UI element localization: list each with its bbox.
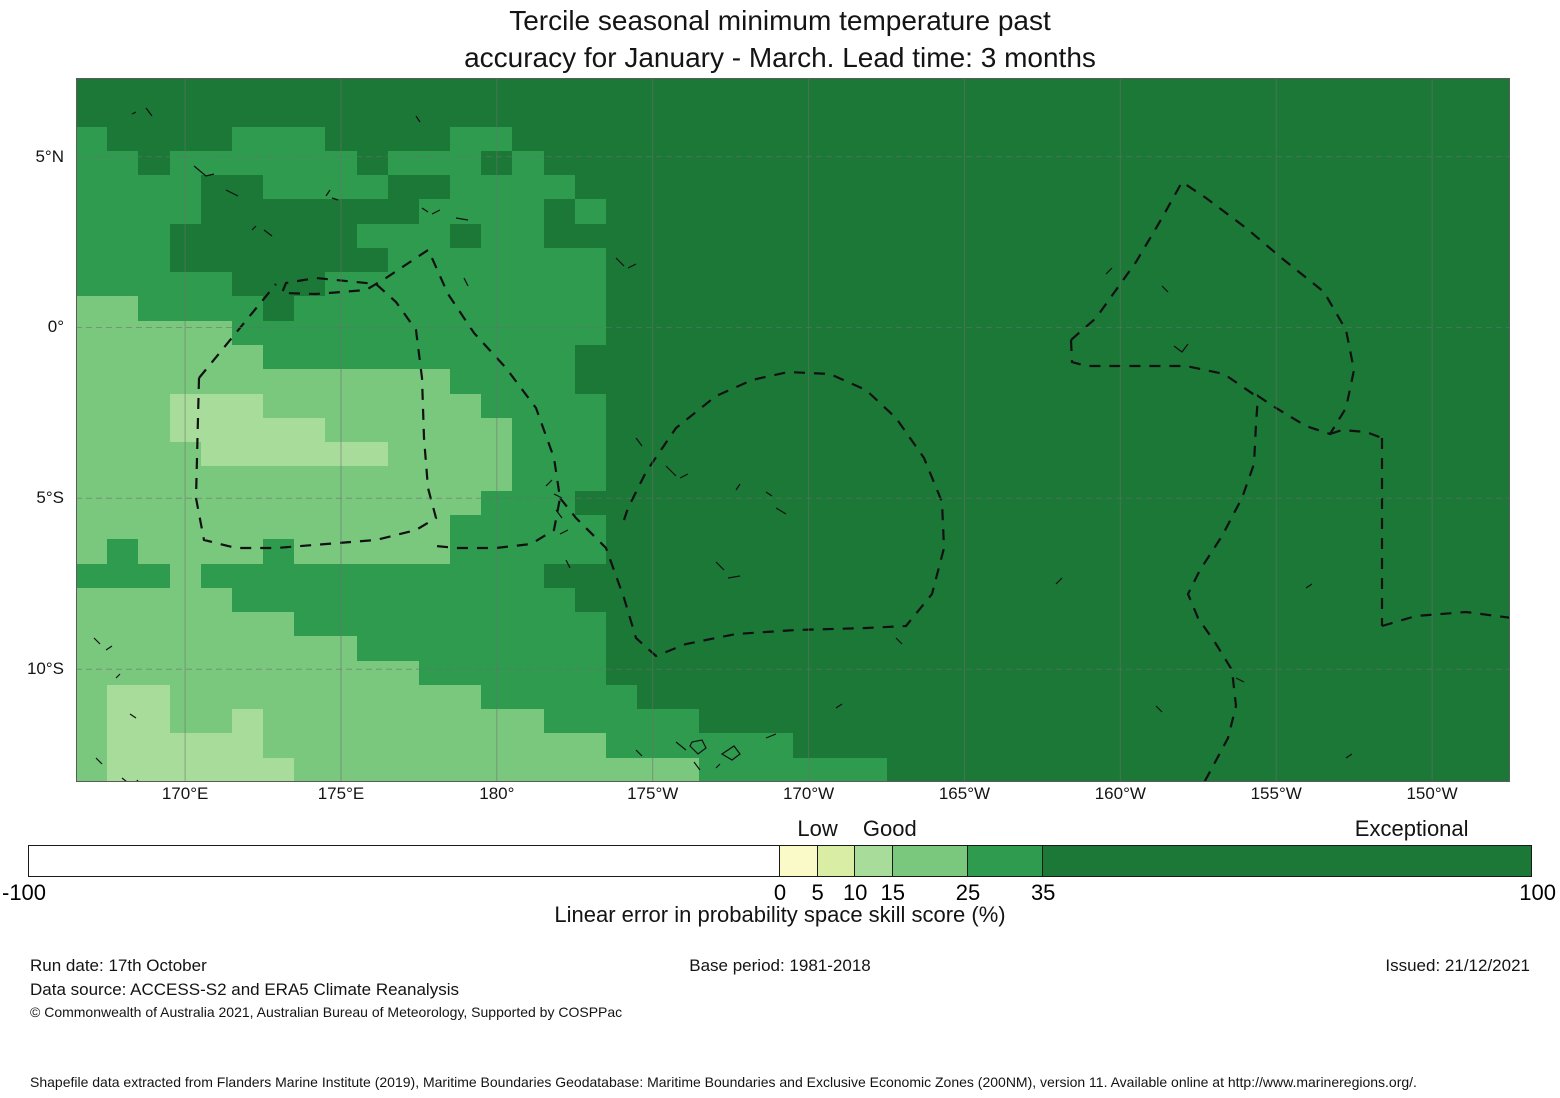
heatmap-cell: [1198, 272, 1230, 297]
heatmap-cell: [887, 442, 919, 467]
heatmap-cell: [357, 636, 389, 661]
heatmap-cell: [1323, 661, 1355, 686]
heatmap-cell: [170, 491, 202, 516]
heatmap-cell: [762, 369, 794, 394]
heatmap-cell: [1167, 248, 1199, 273]
colorbar-gradient[interactable]: [28, 845, 1532, 877]
heatmap-cell: [357, 466, 389, 491]
heatmap-cell: [575, 175, 607, 200]
heatmap-cell: [1385, 491, 1417, 516]
colorbar-tick-label: 25: [956, 880, 980, 906]
heatmap-cell: [1416, 296, 1448, 321]
title-line-2: accuracy for January - March. Lead time:…: [0, 39, 1560, 76]
heatmap-cell: [637, 418, 669, 443]
heatmap-cell: [1354, 369, 1386, 394]
colorbar-segment[interactable]: [780, 846, 818, 876]
heatmap-cell: [388, 345, 420, 370]
heatmap-cell: [294, 321, 326, 346]
heatmap-cell: [637, 224, 669, 249]
heatmap-cell: [544, 733, 576, 758]
heatmap-cell: [325, 175, 357, 200]
heatmap-cell: [1198, 612, 1230, 637]
heatmap-cell: [918, 442, 950, 467]
heatmap-cell: [855, 199, 887, 224]
heatmap-cell: [1354, 733, 1386, 758]
heatmap-cell: [450, 418, 482, 443]
heatmap-cell: [824, 78, 856, 103]
heatmap-cell: [668, 102, 700, 127]
heatmap-cell: [1229, 442, 1261, 467]
heatmap-cell: [232, 442, 264, 467]
heatmap-cell: [419, 418, 451, 443]
heatmap-cell: [1292, 515, 1324, 540]
heatmap-cell: [1416, 466, 1448, 491]
heatmap-cell: [918, 151, 950, 176]
colorbar-segment[interactable]: [1043, 846, 1531, 876]
heatmap-cell: [1261, 442, 1293, 467]
heatmap-cell: [980, 369, 1012, 394]
heatmap-cell: [824, 248, 856, 273]
heatmap-cell: [388, 661, 420, 686]
heatmap-cell: [201, 78, 233, 103]
heatmap-cell: [263, 539, 295, 564]
heatmap-cell: [357, 224, 389, 249]
heatmap-cell: [1385, 588, 1417, 613]
heatmap-cell: [1323, 175, 1355, 200]
heatmap-cell: [699, 127, 731, 152]
heatmap-cell: [918, 369, 950, 394]
heatmap-cell: [325, 491, 357, 516]
heatmap-cell: [1042, 394, 1074, 419]
colorbar-tick-label: 5: [811, 880, 823, 906]
heatmap-cell: [294, 394, 326, 419]
heatmap-cell: [1167, 758, 1199, 782]
heatmap-cell: [263, 636, 295, 661]
heatmap-cell: [949, 636, 981, 661]
heatmap-cell: [699, 661, 731, 686]
heatmap-cell: [544, 272, 576, 297]
heatmap-cell: [1292, 636, 1324, 661]
footer-row-5: Shapefile data extracted from Flanders M…: [0, 1074, 1560, 1098]
heatmap-cell: [325, 685, 357, 710]
heatmap-cell: [1167, 539, 1199, 564]
heatmap-cell: [481, 661, 513, 686]
heatmap-cell: [793, 248, 825, 273]
heatmap-cell: [1292, 321, 1324, 346]
heatmap-cell: [1074, 296, 1106, 321]
heatmap-cell: [201, 369, 233, 394]
heatmap-cell: [294, 588, 326, 613]
heatmap-cell: [1198, 709, 1230, 734]
heatmap-cell: [544, 151, 576, 176]
heatmap-cell: [357, 345, 389, 370]
heatmap-cell: [1292, 248, 1324, 273]
heatmap-cell: [1479, 442, 1510, 467]
heatmap-cell: [263, 442, 295, 467]
heatmap-cell: [450, 248, 482, 273]
heatmap-cell: [668, 224, 700, 249]
heatmap-cell: [481, 345, 513, 370]
heatmap-cell: [232, 685, 264, 710]
heatmap-cell: [419, 758, 451, 782]
heatmap-cell: [450, 733, 482, 758]
heatmap-cell: [419, 442, 451, 467]
heatmap-cell: [1229, 272, 1261, 297]
heatmap-cell: [450, 175, 482, 200]
heatmap-cell: [1042, 418, 1074, 443]
heatmap-cell: [1011, 709, 1043, 734]
shapefile-attribution: Shapefile data extracted from Flanders M…: [30, 1074, 1417, 1090]
heatmap-cell: [1105, 78, 1137, 103]
heatmap-cell: [201, 345, 233, 370]
heatmap-cell: [1229, 636, 1261, 661]
heatmap-cell: [1198, 418, 1230, 443]
heatmap-cell: [294, 175, 326, 200]
heatmap-cell: [1416, 636, 1448, 661]
heatmap-cell: [263, 102, 295, 127]
heatmap-cell: [1074, 224, 1106, 249]
heatmap-cell: [637, 733, 669, 758]
heatmap-cell: [419, 321, 451, 346]
heatmap-cell: [201, 588, 233, 613]
heatmap-cell: [1042, 78, 1074, 103]
heatmap-cell: [1261, 636, 1293, 661]
heatmap-cell: [1323, 564, 1355, 589]
heatmap-cell: [263, 248, 295, 273]
heatmap-cell: [699, 685, 731, 710]
heatmap-cell: [980, 321, 1012, 346]
heatmap-cell: [980, 248, 1012, 273]
heatmap-cell: [980, 612, 1012, 637]
heatmap-cell: [1074, 248, 1106, 273]
heatmap-cell: [357, 515, 389, 540]
heatmap-cell: [1105, 442, 1137, 467]
heatmap-cell: [637, 466, 669, 491]
heatmap-cell: [232, 709, 264, 734]
heatmap-cell: [887, 78, 919, 103]
heatmap-cell: [107, 272, 139, 297]
heatmap-cell: [887, 321, 919, 346]
heatmap-cell: [170, 272, 202, 297]
heatmap-cell: [762, 758, 794, 782]
heatmap-cell: [138, 709, 170, 734]
heatmap-cell: [294, 345, 326, 370]
heatmap-cell: [1042, 248, 1074, 273]
heatmap-cell: [1042, 345, 1074, 370]
heatmap-cell: [170, 564, 202, 589]
heatmap-cell: [232, 127, 264, 152]
heatmap-cell: [1136, 394, 1168, 419]
heatmap-cell: [544, 248, 576, 273]
heatmap-cell: [1385, 515, 1417, 540]
heatmap-cell: [1323, 272, 1355, 297]
heatmap-cell: [762, 418, 794, 443]
heatmap-cell: [357, 127, 389, 152]
heatmap-cell: [793, 612, 825, 637]
heatmap-cell: [76, 321, 108, 346]
heatmap-cell: [1136, 685, 1168, 710]
heatmap-cell: [512, 466, 544, 491]
heatmap-cell: [76, 636, 108, 661]
heatmap-cell: [201, 151, 233, 176]
heatmap-cell: [481, 612, 513, 637]
heatmap-cell: [201, 758, 233, 782]
x-axis-tick-label: 170°W: [783, 784, 834, 804]
heatmap-cell: [450, 127, 482, 152]
heatmap-cell: [668, 272, 700, 297]
heatmap-cell: [1136, 733, 1168, 758]
heatmap-cell: [1416, 418, 1448, 443]
colorbar-tick-label: 0: [774, 880, 786, 906]
heatmap-cell: [1167, 296, 1199, 321]
heatmap-cell: [294, 491, 326, 516]
heatmap-cell: [668, 466, 700, 491]
heatmap-cell: [855, 466, 887, 491]
heatmap-cell: [107, 709, 139, 734]
heatmap-cell: [606, 151, 638, 176]
heatmap-cell: [793, 709, 825, 734]
heatmap-cell: [980, 224, 1012, 249]
heatmap-cell: [1074, 321, 1106, 346]
heatmap-cell: [1448, 685, 1480, 710]
heatmap-cell: [76, 296, 108, 321]
heatmap-cell: [949, 199, 981, 224]
heatmap-cell: [107, 661, 139, 686]
colorbar-segment[interactable]: [818, 846, 856, 876]
heatmap-cell: [1323, 296, 1355, 321]
heatmap-cell: [1323, 321, 1355, 346]
heatmap-cell: [824, 369, 856, 394]
heatmap-cell: [762, 272, 794, 297]
heatmap-cell: [793, 151, 825, 176]
colorbar-segment[interactable]: [968, 846, 1043, 876]
colorbar-segment[interactable]: [893, 846, 968, 876]
heatmap-cell: [512, 636, 544, 661]
footer-row-3: © Commonwealth of Australia 2021, Austra…: [0, 1004, 1560, 1028]
heatmap-cell: [138, 199, 170, 224]
heatmap-cell: [419, 636, 451, 661]
heatmap-cell: [918, 296, 950, 321]
heatmap-cell: [762, 709, 794, 734]
heatmap-cell: [637, 442, 669, 467]
heatmap-cell-layer: [76, 78, 1510, 782]
heatmap-cell: [1011, 199, 1043, 224]
heatmap-cell: [1354, 539, 1386, 564]
heatmap-cell: [1074, 272, 1106, 297]
heatmap-cell: [481, 709, 513, 734]
heatmap-cell: [107, 491, 139, 516]
heatmap-cell: [357, 151, 389, 176]
heatmap-cell: [606, 102, 638, 127]
heatmap-cell: [1011, 588, 1043, 613]
heatmap-cell: [419, 539, 451, 564]
heatmap-cell: [325, 248, 357, 273]
heatmap-cell: [1167, 564, 1199, 589]
heatmap-cell: [980, 175, 1012, 200]
heatmap-cell: [388, 369, 420, 394]
heatmap-cell: [512, 515, 544, 540]
heatmap-cell: [606, 296, 638, 321]
heatmap-cell: [232, 466, 264, 491]
heatmap-cell: [1448, 466, 1480, 491]
heatmap-cell: [762, 199, 794, 224]
heatmap-cell: [575, 418, 607, 443]
heatmap-cell: [76, 564, 108, 589]
heatmap-cell: [731, 515, 763, 540]
heatmap-cell: [1105, 636, 1137, 661]
heatmap-cell: [1479, 564, 1510, 589]
heatmap-cell: [949, 224, 981, 249]
heatmap-cell: [668, 296, 700, 321]
heatmap-cell: [918, 394, 950, 419]
heatmap-cell: [1354, 78, 1386, 103]
heatmap-cell: [606, 612, 638, 637]
heatmap-cell: [450, 588, 482, 613]
heatmap-cell: [481, 102, 513, 127]
heatmap-cell: [325, 418, 357, 443]
heatmap-cell: [793, 442, 825, 467]
heatmap-cell: [1074, 758, 1106, 782]
heatmap-cell: [1479, 539, 1510, 564]
heatmap-cell: [201, 539, 233, 564]
heatmap-cell: [1167, 588, 1199, 613]
heatmap-cell: [824, 175, 856, 200]
heatmap-cell: [138, 442, 170, 467]
heatmap-cell: [637, 78, 669, 103]
heatmap-cell: [980, 442, 1012, 467]
heatmap-cell: [668, 418, 700, 443]
heatmap-cell: [1011, 224, 1043, 249]
heatmap-cell: [263, 175, 295, 200]
heatmap-cell: [76, 175, 108, 200]
heatmap-cell: [138, 564, 170, 589]
heatmap-cell: [544, 539, 576, 564]
heatmap-cell: [887, 709, 919, 734]
heatmap-cell: [1229, 296, 1261, 321]
heatmap-cell: [544, 127, 576, 152]
heatmap-cell: [1198, 515, 1230, 540]
heatmap-cell: [1416, 369, 1448, 394]
heatmap-cell: [107, 296, 139, 321]
heatmap-cell: [1074, 418, 1106, 443]
heatmap-cell: [606, 709, 638, 734]
heatmap-cell: [170, 224, 202, 249]
heatmap-cell: [606, 515, 638, 540]
heatmap-cell: [918, 661, 950, 686]
colorbar-segment[interactable]: [855, 846, 893, 876]
heatmap-cell: [512, 151, 544, 176]
heatmap-cell: [1042, 515, 1074, 540]
heatmap-cell: [325, 758, 357, 782]
heatmap-cell: [357, 272, 389, 297]
heatmap-cell: [699, 491, 731, 516]
heatmap-cell: [1011, 466, 1043, 491]
heatmap-cell: [887, 224, 919, 249]
heatmap-cell: [949, 102, 981, 127]
heatmap-cell: [138, 296, 170, 321]
heatmap-cell: [1479, 709, 1510, 734]
heatmap-cell: [1416, 709, 1448, 734]
heatmap-cell: [1448, 151, 1480, 176]
heatmap-cell: [232, 491, 264, 516]
heatmap-cell: [887, 345, 919, 370]
heatmap-cell: [419, 272, 451, 297]
heatmap-cell: [887, 369, 919, 394]
heatmap-cell: [263, 127, 295, 152]
heatmap-cell: [325, 442, 357, 467]
heatmap-cell: [170, 758, 202, 782]
heatmap-cell: [575, 564, 607, 589]
heatmap-cell: [201, 661, 233, 686]
heatmap-cell: [1479, 636, 1510, 661]
heatmap-cell: [388, 588, 420, 613]
heatmap-cell: [294, 636, 326, 661]
heatmap-cell: [1229, 175, 1261, 200]
heatmap-cell: [1261, 369, 1293, 394]
heatmap-cell: [824, 685, 856, 710]
heatmap-cell: [793, 272, 825, 297]
heatmap-cell: [668, 175, 700, 200]
heatmap-cell: [1011, 394, 1043, 419]
heatmap-cell: [138, 224, 170, 249]
heatmap-cell: [232, 224, 264, 249]
heatmap-cell: [793, 127, 825, 152]
x-axis-tick-label: 150°W: [1406, 784, 1457, 804]
heatmap-cell: [1011, 733, 1043, 758]
heatmap-cell: [949, 539, 981, 564]
heatmap-cell: [606, 733, 638, 758]
heatmap-cell: [1385, 661, 1417, 686]
heatmap-cell: [294, 661, 326, 686]
heatmap-cell: [1354, 515, 1386, 540]
heatmap-cell: [1136, 709, 1168, 734]
heatmap-cell: [699, 296, 731, 321]
heatmap-cell: [1229, 539, 1261, 564]
heatmap-cell: [388, 78, 420, 103]
heatmap-cell: [855, 102, 887, 127]
heatmap-cell: [138, 661, 170, 686]
heatmap-cell: [575, 466, 607, 491]
heatmap-cell: [793, 175, 825, 200]
colorbar[interactable]: [28, 845, 1532, 877]
heatmap-cell: [294, 369, 326, 394]
heatmap-cell: [388, 539, 420, 564]
heatmap-cell: [1261, 466, 1293, 491]
heatmap-cell: [637, 102, 669, 127]
heatmap-cell: [980, 102, 1012, 127]
heatmap-cell: [512, 272, 544, 297]
heatmap-cell: [325, 612, 357, 637]
heatmap-cell: [76, 345, 108, 370]
heatmap-cell: [1042, 102, 1074, 127]
heatmap-cell: [1448, 564, 1480, 589]
heatmap-cell: [1261, 539, 1293, 564]
heatmap-cell: [1261, 394, 1293, 419]
heatmap-cell: [512, 491, 544, 516]
heatmap-cell: [450, 321, 482, 346]
heatmap-cell: [1074, 175, 1106, 200]
heatmap-cell: [512, 564, 544, 589]
heatmap-cell: [1229, 248, 1261, 273]
heatmap-cell: [263, 224, 295, 249]
heatmap-cell: [325, 321, 357, 346]
colorbar-segment[interactable]: [29, 846, 780, 876]
heatmap-cell: [1167, 636, 1199, 661]
heatmap-cell: [1416, 248, 1448, 273]
heatmap-cell: [668, 758, 700, 782]
heatmap-cell: [824, 272, 856, 297]
heatmap-cell: [1136, 442, 1168, 467]
